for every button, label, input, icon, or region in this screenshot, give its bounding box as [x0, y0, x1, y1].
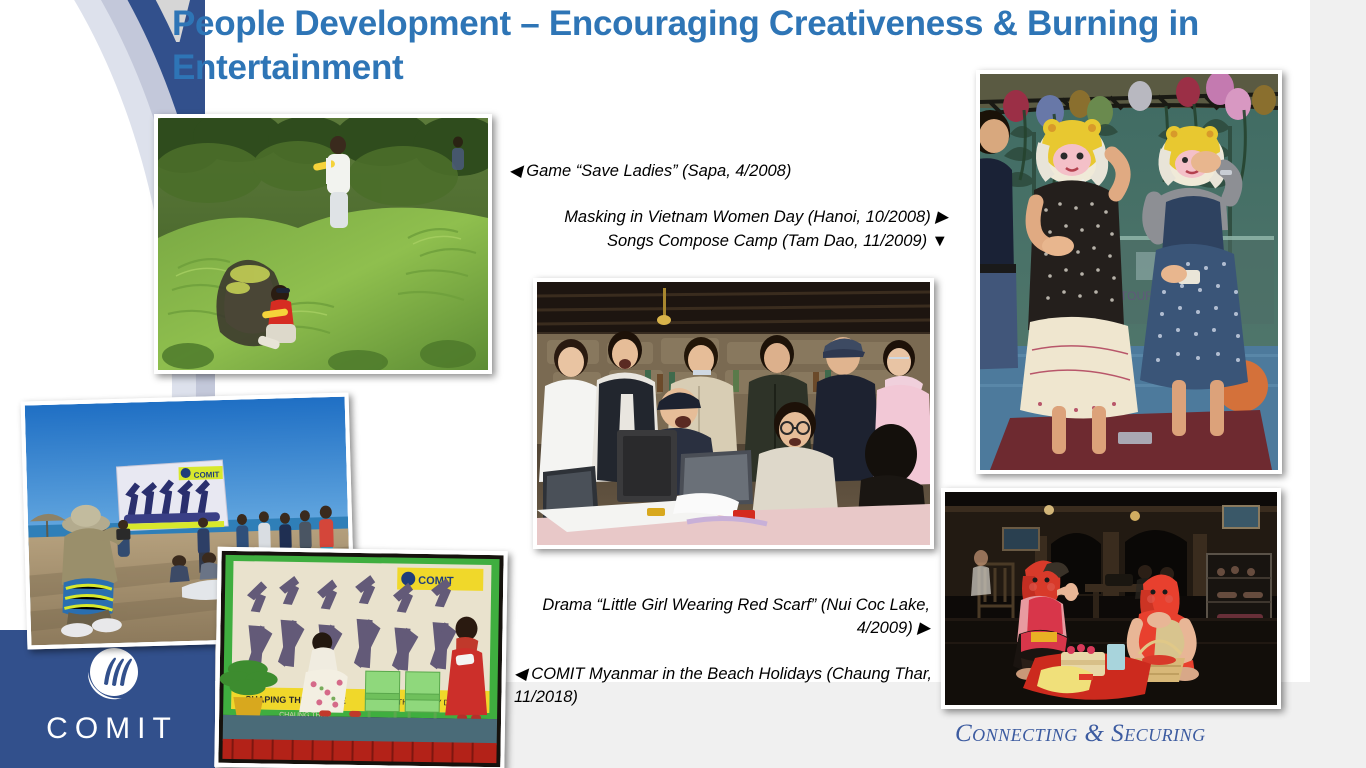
svg-text:COMIT: COMIT — [194, 470, 220, 480]
comit-logo-text: COMIT — [44, 714, 180, 744]
panel-corner-triangle — [1282, 600, 1310, 682]
comit-logo: COMIT — [44, 644, 180, 744]
panel-right-edge-fill — [1282, 520, 1310, 602]
photo-drama-scene — [941, 488, 1281, 709]
caption-songs-camp: Songs Compose Camp (Tam Dao, 11/2009) ▼ — [500, 230, 948, 253]
slide-canvas: People Development – Encouraging Creativ… — [0, 0, 1366, 768]
photo-stage-show: COMIT SHAPING THE FUTURE ART BATHING • M… — [214, 547, 507, 768]
photo-forest-game — [154, 114, 492, 374]
footer-tagline: Connecting & Securing — [955, 720, 1206, 748]
caption-save-ladies: ◀ Game “Save Ladies” (Sapa, 4/2008) — [509, 160, 939, 183]
forest-game-image — [158, 118, 488, 370]
masking-day-image: TOUR PROGRAM — [980, 74, 1278, 470]
photo-masking-day: TOUR PROGRAM — [976, 70, 1282, 474]
caption-drama: Drama “Little Girl Wearing Red Scarf” (N… — [520, 594, 930, 641]
songs-camp-image — [537, 282, 930, 545]
stage-show-image: COMIT SHAPING THE FUTURE ART BATHING • M… — [218, 551, 503, 767]
caption-masking: Masking in Vietnam Women Day (Hanoi, 10/… — [500, 206, 948, 229]
comit-swoosh-icon — [80, 644, 144, 708]
caption-myanmar-beach: ◀ COMIT Myanmar in the Beach Holidays (C… — [514, 663, 934, 710]
drama-scene-image — [945, 492, 1277, 705]
photo-songs-camp — [533, 278, 934, 549]
